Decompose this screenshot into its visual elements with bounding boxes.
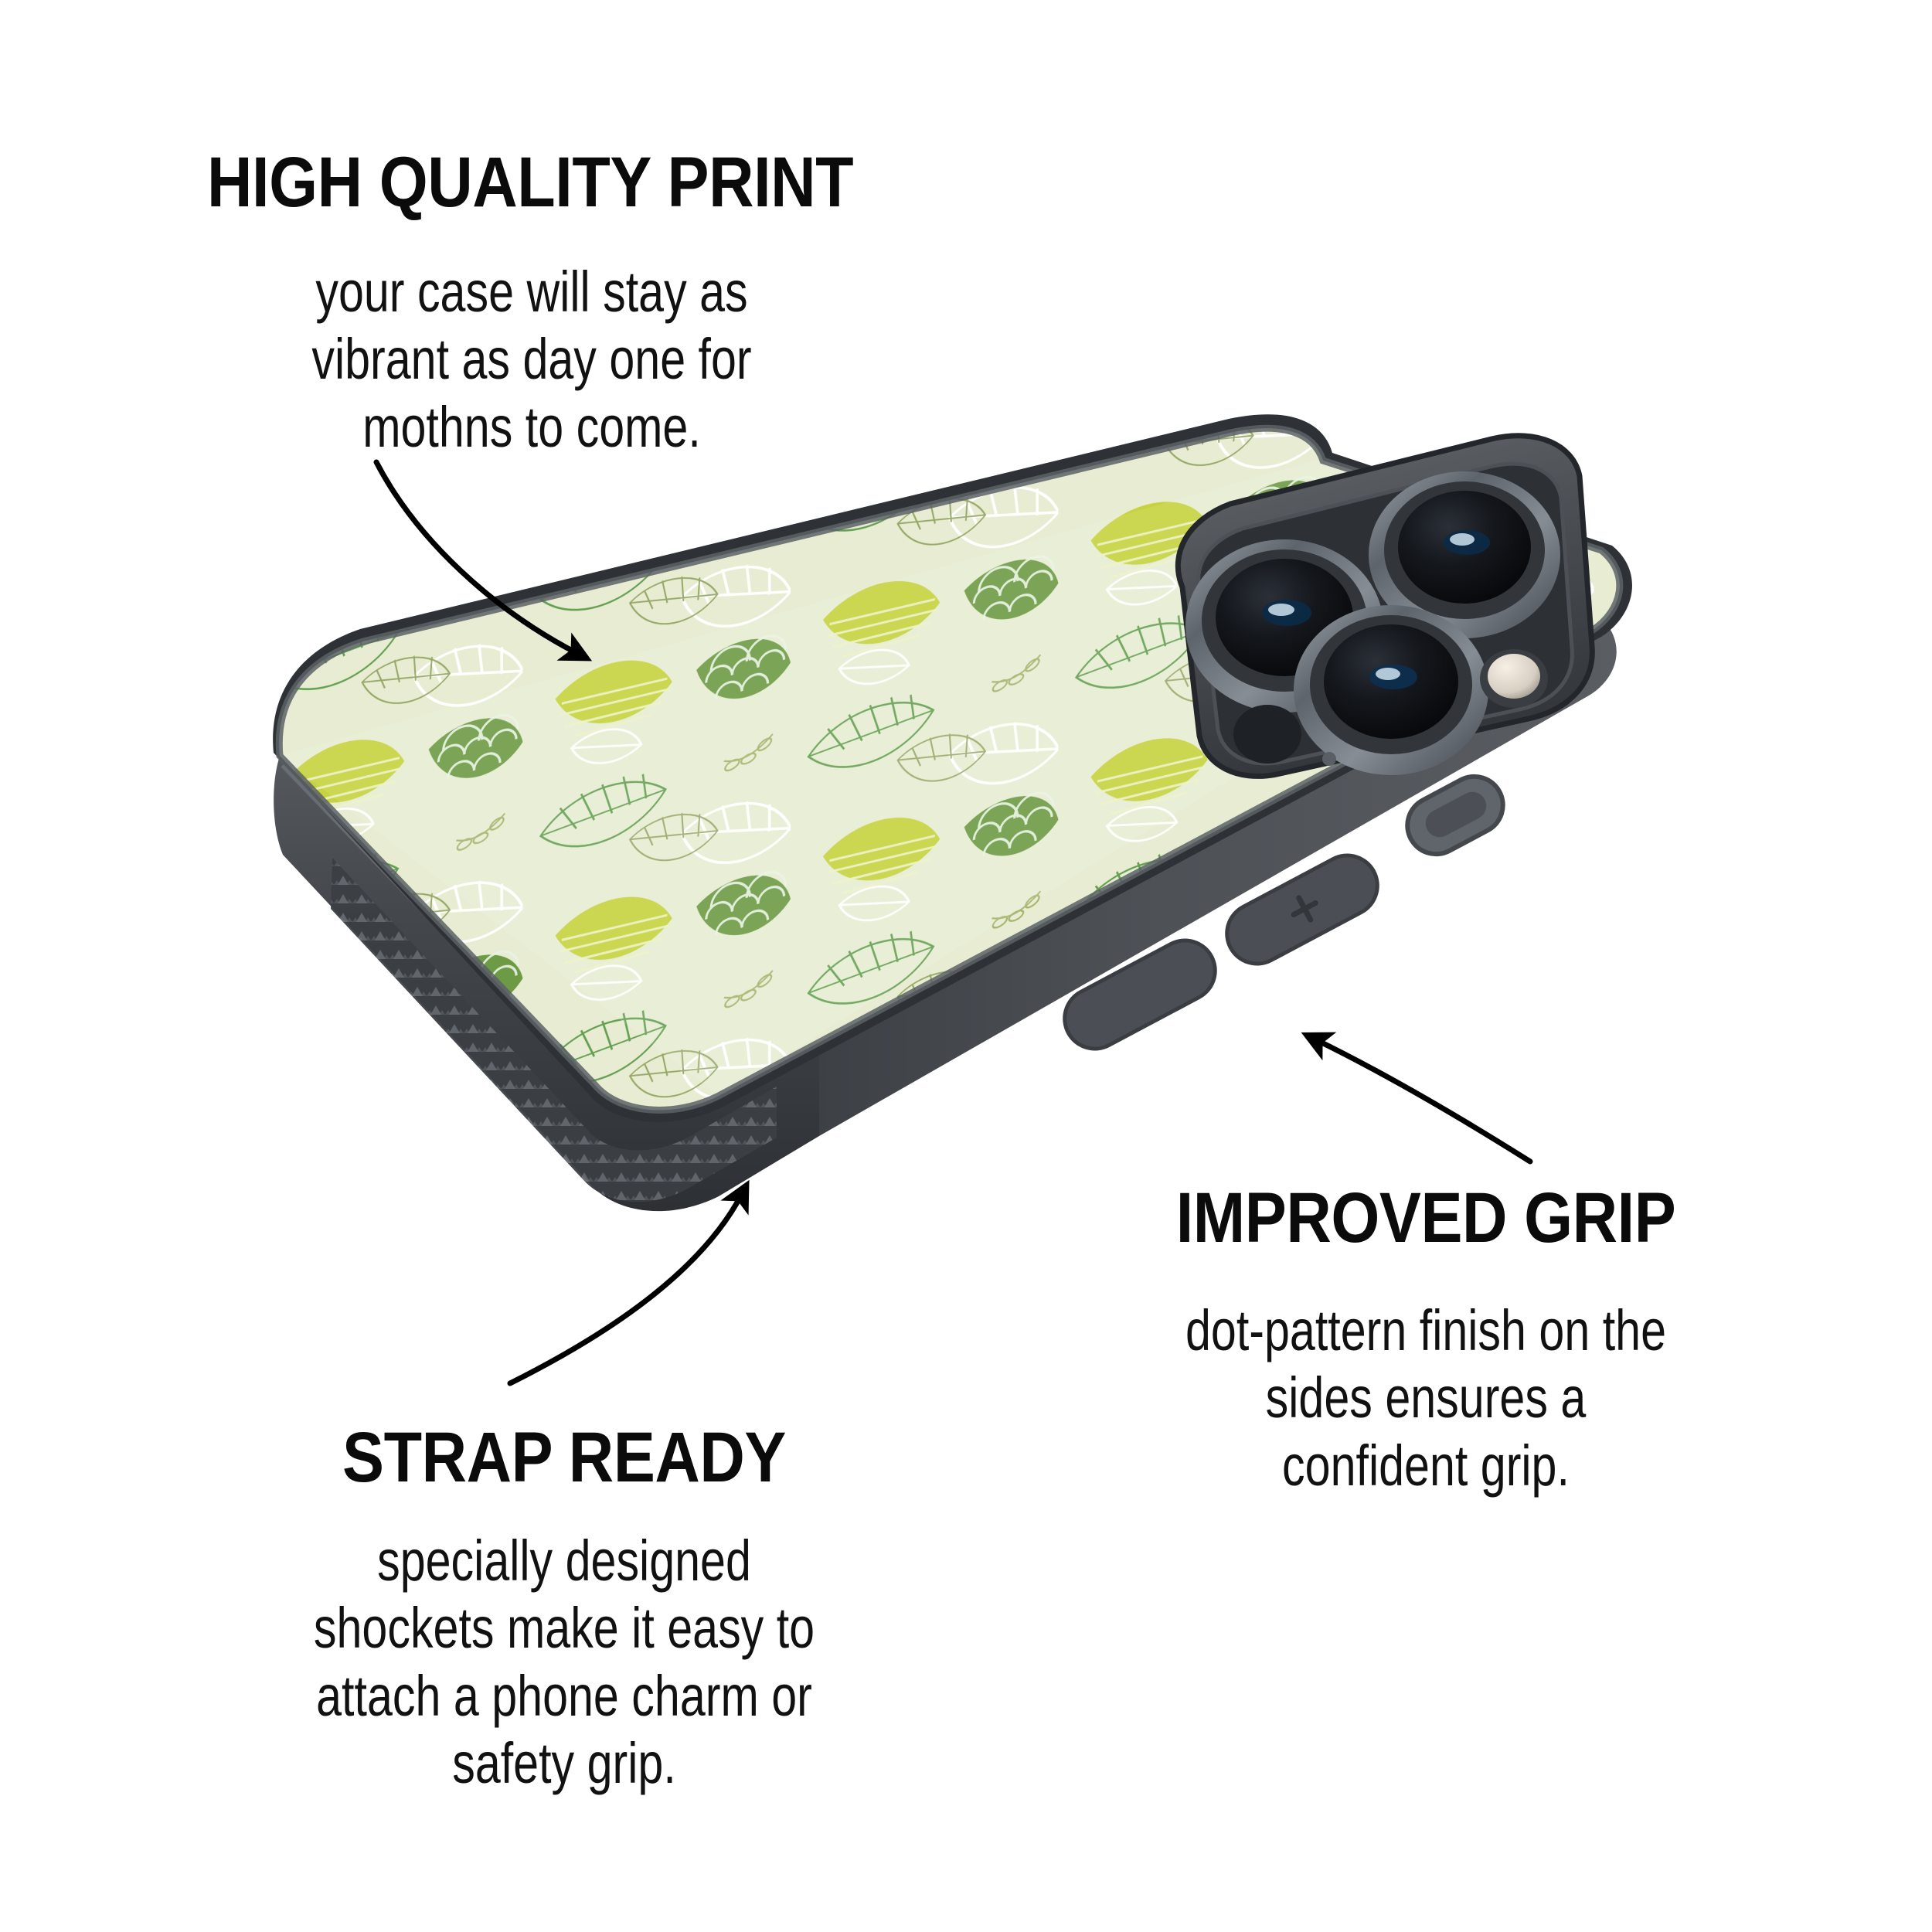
feature-body-line: shockets make it easy to	[286, 1594, 842, 1662]
feature-body-strap-ready: specially designed shockets make it easy…	[286, 1527, 842, 1797]
strap-arrow	[510, 1194, 742, 1383]
feature-body-line: safety grip.	[286, 1730, 842, 1797]
feature-body-improved-grip: dot-pattern finish on the sides ensures …	[1148, 1297, 1704, 1499]
camera-lidar-sensor	[1233, 705, 1301, 764]
feature-body-line: mothns to come.	[229, 393, 835, 461]
camera-flash	[1480, 649, 1548, 708]
feature-heading-improved-grip: IMPROVED GRIP	[1120, 1182, 1732, 1253]
feature-body-line: attach a phone charm or	[286, 1662, 842, 1730]
feature-body-line: vibrant as day one for	[229, 325, 835, 393]
camera-lens-ultrawide	[1294, 605, 1488, 775]
feature-body-line: dot-pattern finish on the	[1148, 1297, 1704, 1364]
camera-microphone	[1322, 752, 1336, 766]
feature-body-line: confident grip.	[1148, 1432, 1704, 1499]
feature-heading-high-quality-print: HIGH QUALITY PRINT	[207, 147, 853, 218]
grip-arrow	[1315, 1039, 1530, 1162]
feature-block-high-quality-print: HIGH QUALITY PRINT your case will stay a…	[207, 147, 941, 461]
feature-block-improved-grip: IMPROVED GRIP dot-pattern finish on the …	[1078, 1182, 1774, 1499]
infographic-canvas: HIGH QUALITY PRINT your case will stay a…	[0, 0, 1932, 1932]
feature-heading-strap-ready: STRAP READY	[258, 1422, 870, 1493]
feature-block-strap-ready: STRAP READY specially designed shockets …	[216, 1422, 912, 1797]
feature-body-high-quality-print: your case will stay as vibrant as day on…	[229, 258, 835, 461]
feature-body-line: your case will stay as	[229, 258, 835, 325]
feature-body-line: sides ensures a	[1148, 1364, 1704, 1431]
feature-body-line: specially designed	[286, 1527, 842, 1594]
